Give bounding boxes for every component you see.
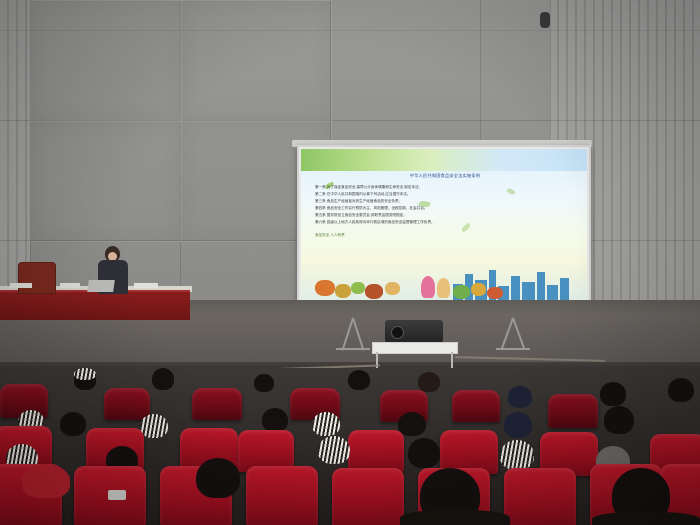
audience-head xyxy=(600,382,626,406)
slide-food-graphic xyxy=(487,287,503,299)
desk-paper xyxy=(10,283,32,288)
slide-footer-note: 食品安全 人人有责 xyxy=(315,233,577,237)
audience-head xyxy=(152,368,174,390)
wall-panel xyxy=(30,120,182,242)
slide-content: 中华人民共和国食品安全法实施条例 第一条 为了保证食品安全,保障公众身体健康和生… xyxy=(301,149,587,300)
audience-head xyxy=(262,408,288,432)
audience-head-cap xyxy=(22,464,70,498)
projector-lens-icon xyxy=(391,326,404,339)
slide-food-graphic xyxy=(365,284,383,299)
slide-food-graphic xyxy=(453,285,470,299)
slide-image-collage xyxy=(301,250,587,300)
audience-head xyxy=(348,370,370,390)
presenter-desk xyxy=(0,290,190,320)
projector-table xyxy=(372,342,458,354)
audience-head xyxy=(408,438,440,468)
slide-food-graphic xyxy=(385,282,400,295)
wall-ribbed-left xyxy=(0,0,30,300)
audience-seat xyxy=(348,430,404,472)
slide-person-graphic xyxy=(437,278,450,298)
audience-shoulders xyxy=(592,512,700,525)
slide-food-graphic xyxy=(471,283,486,296)
audience-seat xyxy=(246,466,318,525)
slide-body-line: 第四条 食品安全工作实行预防为主、风险管理、全程控制、社会共治。 xyxy=(315,206,577,210)
projection-screen: 中华人民共和国食品安全法实施条例 第一条 为了保证食品安全,保障公众身体健康和生… xyxy=(297,145,591,304)
laptop xyxy=(87,280,115,292)
audience-head xyxy=(74,368,96,380)
wall-panel xyxy=(180,0,332,122)
audience-head xyxy=(604,406,634,434)
presenter-chair xyxy=(18,262,56,294)
audience-seat xyxy=(548,394,598,428)
slide-food-graphic xyxy=(335,284,351,298)
audience-head xyxy=(196,458,240,498)
slide-body-line: 第五条 国务院设立食品安全委员会,其职责由国务院规定。 xyxy=(315,213,577,217)
slide-food-graphic xyxy=(351,282,365,294)
desk-paper xyxy=(134,283,158,288)
audience-head xyxy=(398,412,426,436)
slide-body-line: 第二条 在中华人民共和国境内从事下列活动,应当遵守本法。 xyxy=(315,192,577,196)
audience-head xyxy=(418,372,440,392)
screen-stand-right xyxy=(490,318,536,358)
audience-seat xyxy=(504,468,576,525)
audience-head xyxy=(500,440,534,470)
photo-scene: 中华人民共和国食品安全法实施条例 第一条 为了保证食品安全,保障公众身体健康和生… xyxy=(0,0,700,525)
audience-head xyxy=(668,378,694,402)
audience-seat xyxy=(452,390,500,422)
slide-body-line: 第六条 县级以上地方人民政府对本行政区域的食品安全监督管理工作负责。 xyxy=(315,220,577,224)
slide-body-line: 第一条 为了保证食品安全,保障公众身体健康和生命安全,制定本法。 xyxy=(315,185,577,189)
audience-head xyxy=(140,414,168,438)
audience-head xyxy=(254,374,274,392)
audience-head xyxy=(504,412,532,438)
slide-title: 中华人民共和国食品安全法实施条例 xyxy=(309,173,581,179)
desk-paper xyxy=(60,283,80,288)
audience-head xyxy=(318,436,350,464)
projector xyxy=(385,320,443,343)
slide-body-line: 第三条 食品生产经营者对其生产经营食品的安全负责。 xyxy=(315,199,577,203)
leaf-decoration-icon xyxy=(460,223,471,233)
audience-phone xyxy=(108,490,126,500)
screen-stand-left xyxy=(330,318,376,358)
audience-shoulders xyxy=(400,510,510,525)
audience-head xyxy=(60,412,86,436)
slide-person-graphic xyxy=(421,276,435,298)
wall-panel xyxy=(30,0,182,122)
audience-head xyxy=(312,412,340,436)
audience-seat xyxy=(332,468,404,525)
slide-header-band xyxy=(301,149,587,171)
ceiling-speaker-icon xyxy=(540,12,550,28)
audience-area xyxy=(0,368,700,525)
audience-head xyxy=(508,386,532,408)
audience-seat xyxy=(104,388,150,420)
audience-seat xyxy=(192,388,242,420)
slide-food-graphic xyxy=(315,280,335,296)
